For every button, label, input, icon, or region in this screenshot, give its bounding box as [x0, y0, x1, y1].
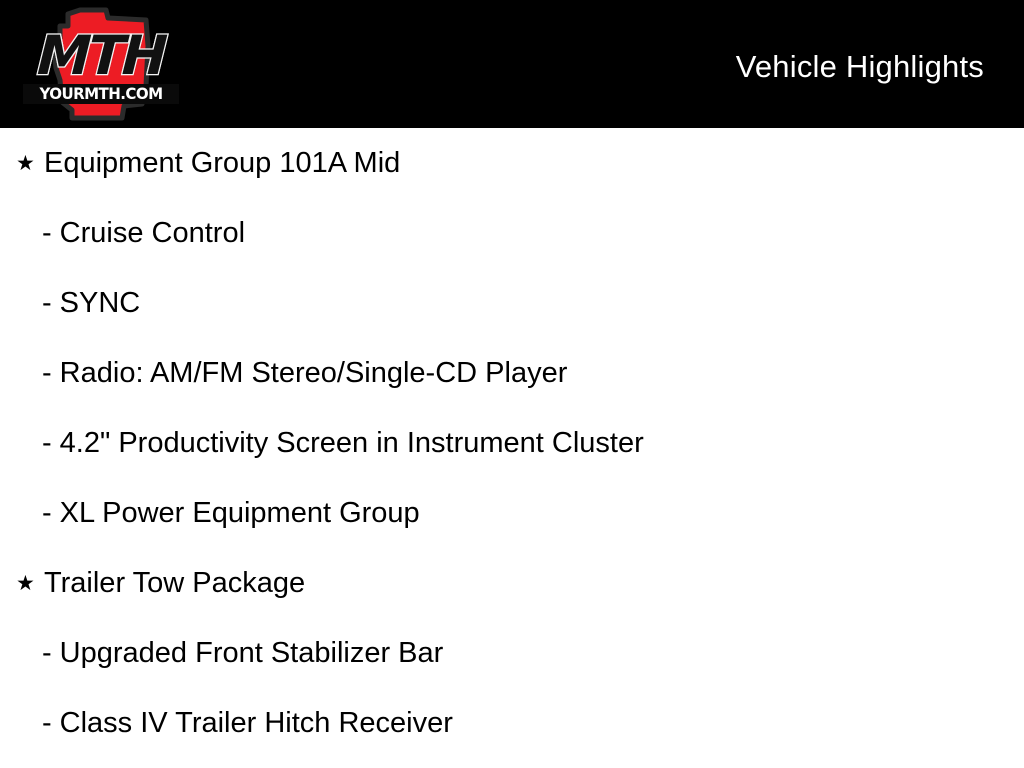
logo-url-text: YOURMTH.COM — [23, 84, 179, 104]
highlight-label: XL Power Equipment Group — [60, 496, 420, 530]
vehicle-highlights-list: ★Equipment Group 101A Mid-Cruise Control… — [0, 128, 1024, 758]
dash-bullet-icon: - — [42, 499, 60, 528]
highlight-label: Radio: AM/FM Stereo/Single-CD Player — [60, 356, 568, 390]
dash-bullet-icon: - — [42, 219, 60, 248]
highlight-sub-item: -XL Power Equipment Group — [0, 478, 1024, 548]
mth-logo[interactable]: MTH YOURMTH.COM — [12, 2, 190, 128]
highlight-label: Equipment Group 101A Mid — [44, 146, 400, 180]
highlight-sub-item: -Cruise Control — [0, 198, 1024, 268]
highlight-sub-item: -Upgraded Front Stabilizer Bar — [0, 618, 1024, 688]
highlight-label: Class IV Trailer Hitch Receiver — [60, 706, 453, 740]
star-bullet-icon: ★ — [16, 573, 44, 594]
page-title: Vehicle Highlights — [736, 50, 984, 84]
highlight-group-item: ★Equipment Group 101A Mid — [0, 128, 1024, 198]
highlight-sub-item: -SYNC — [0, 268, 1024, 338]
star-bullet-icon: ★ — [16, 153, 44, 174]
highlight-sub-item: -Class IV Trailer Hitch Receiver — [0, 688, 1024, 758]
highlight-label: 4.2" Productivity Screen in Instrument C… — [60, 426, 644, 460]
page-header: MTH YOURMTH.COM Vehicle Highlights — [0, 0, 1024, 128]
highlight-label: Upgraded Front Stabilizer Bar — [60, 636, 444, 670]
logo-wordmark: MTH — [11, 28, 192, 84]
highlight-label: Cruise Control — [60, 216, 245, 250]
highlight-label: Trailer Tow Package — [44, 566, 305, 600]
dash-bullet-icon: - — [42, 639, 60, 668]
dash-bullet-icon: - — [42, 709, 60, 738]
highlight-group-item: ★Trailer Tow Package — [0, 548, 1024, 618]
highlight-sub-item: -4.2" Productivity Screen in Instrument … — [0, 408, 1024, 478]
dash-bullet-icon: - — [42, 359, 60, 388]
highlight-label: SYNC — [60, 286, 141, 320]
dash-bullet-icon: - — [42, 289, 60, 318]
dash-bullet-icon: - — [42, 429, 60, 458]
highlights-content: ★Equipment Group 101A Mid-Cruise Control… — [0, 128, 1024, 768]
highlight-sub-item: -Radio: AM/FM Stereo/Single-CD Player — [0, 338, 1024, 408]
